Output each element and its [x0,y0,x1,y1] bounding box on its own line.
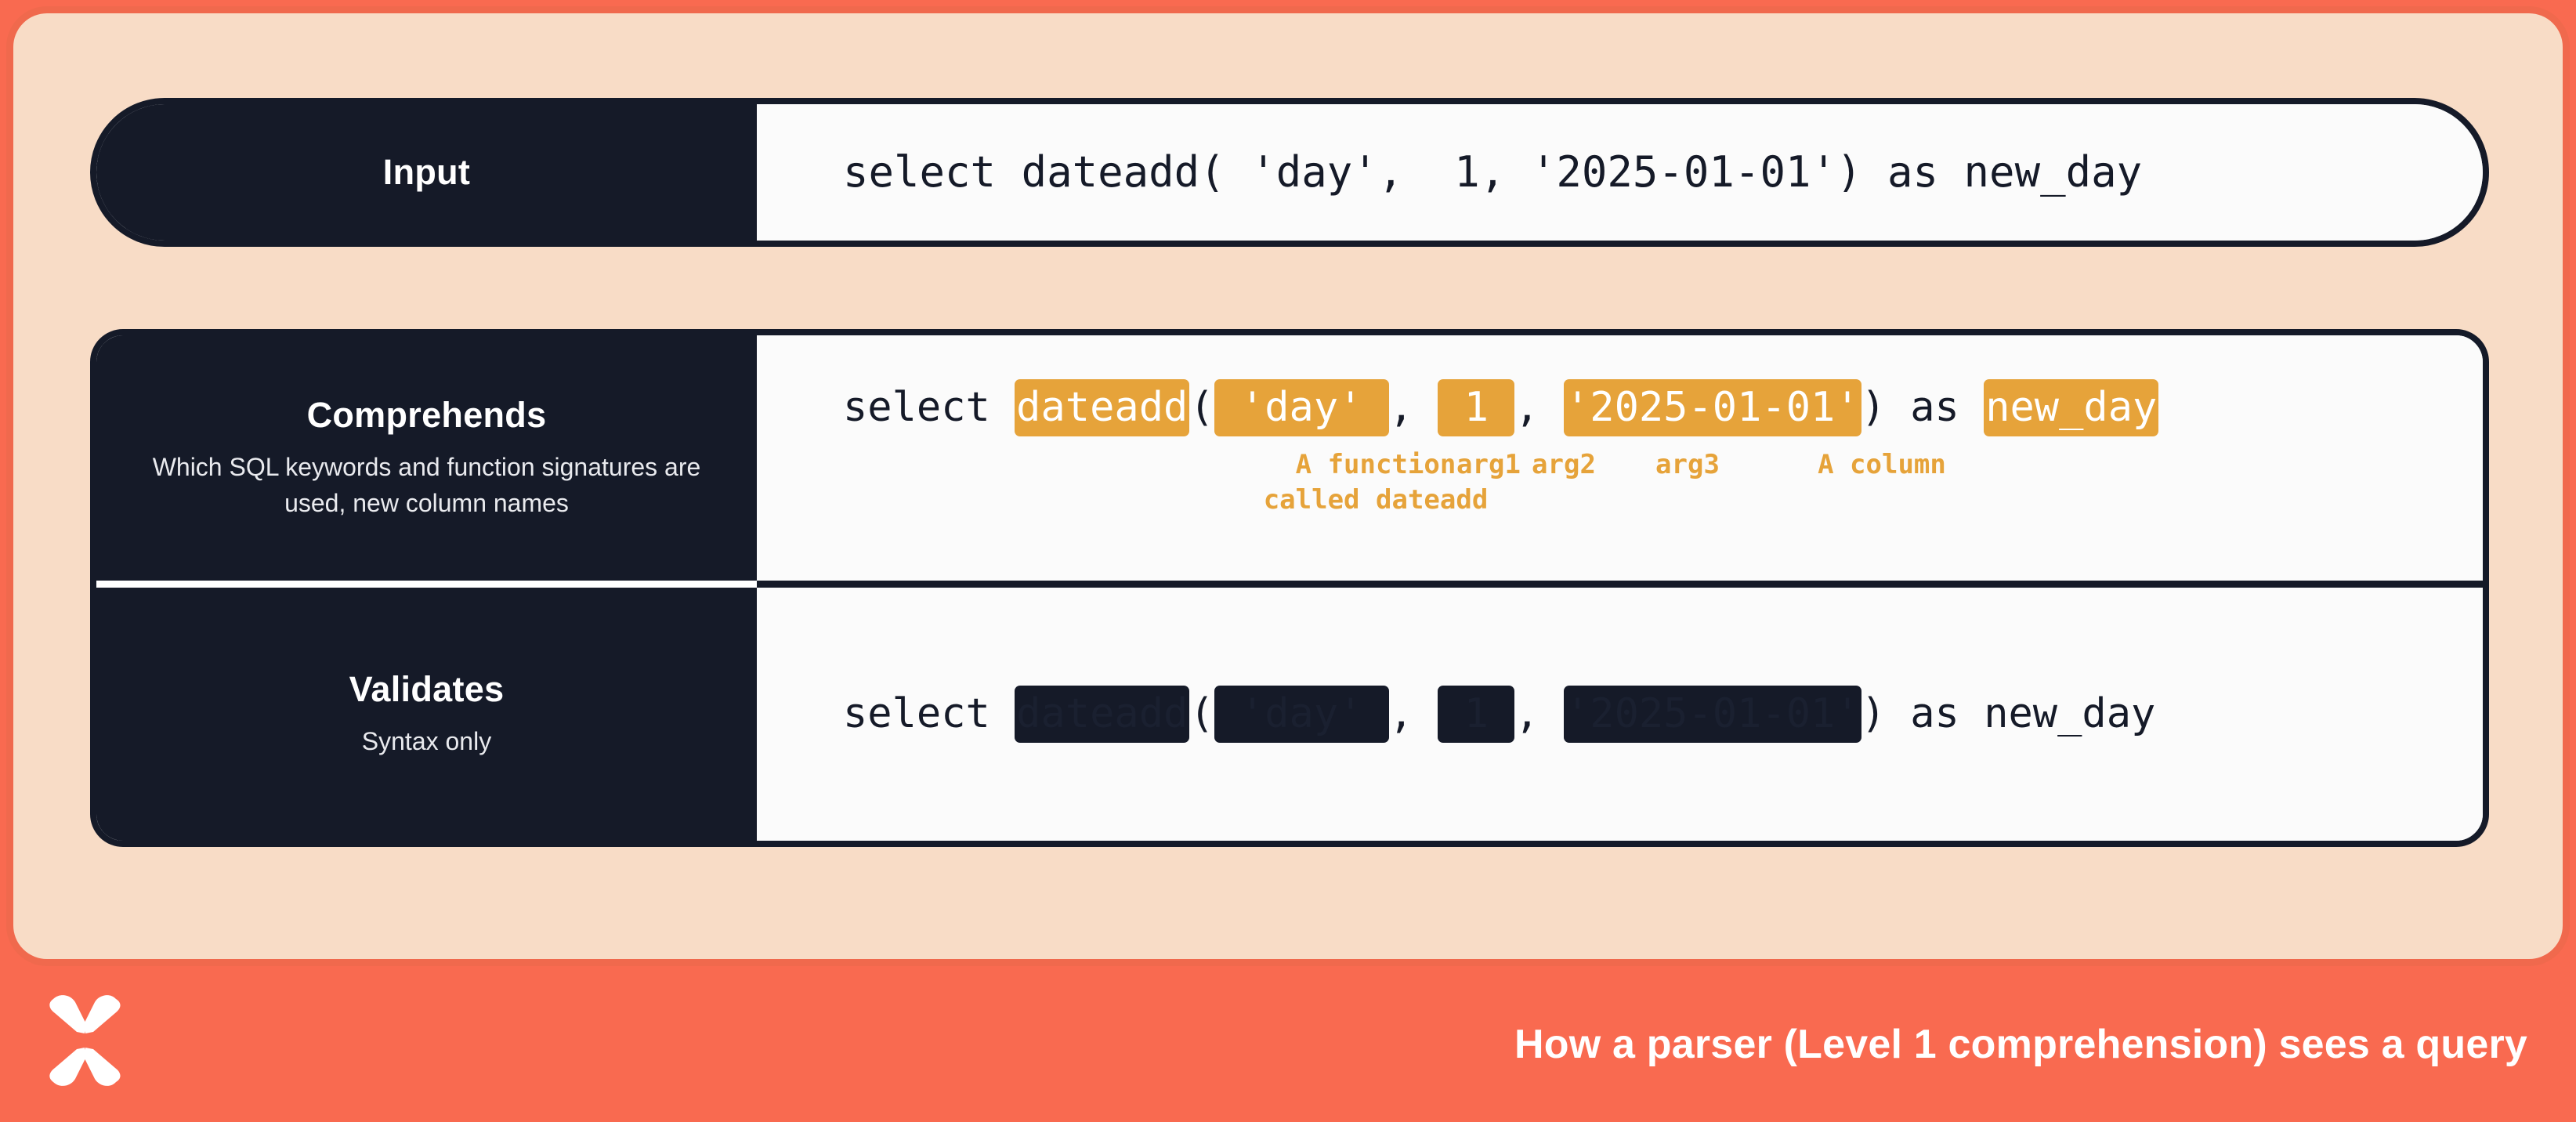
code-token: dateadd [1015,379,1189,436]
code-token: new_day [1964,150,2143,195]
code-token: , [1389,693,1438,736]
comprehends-label-cell: Comprehends Which SQL keywords and funct… [96,335,757,581]
input-query-code: select dateadd( 'day', 1, '2025-01-01') … [843,150,2142,195]
divider-left-segment [96,581,757,588]
token-annotation: A function called dateadd [1264,447,1489,518]
input-row-label: Input [383,152,470,193]
code-token: '2025-01-01' [1564,686,1861,743]
token-annotation: arg3 [1655,447,1720,483]
code-token: 'day' [1214,379,1389,436]
footer-title: How a parser (Level 1 comprehension) see… [1514,1021,2527,1068]
validates-query-code: select dateadd( 'day' , 1 , '2025-01-01'… [843,686,2483,743]
code-token: 1 [1454,150,1480,195]
token-annotation: A column [1818,447,1946,483]
code-token: 'day' [1250,150,1378,195]
input-row-label-cell: Input [96,104,757,241]
code-token: ( [1199,150,1250,195]
code-token: ) as [1861,693,1984,736]
code-token: , [1514,693,1564,736]
table-row: Validates Syntax only select dateadd( 'd… [96,588,2483,841]
input-row: Input select dateadd( 'day', 1, '2025-01… [90,98,2489,247]
divider-right-segment [757,581,2483,588]
code-token: ( [1189,386,1214,429]
code-token: select [843,150,1022,195]
comprehends-query-code: select dateadd( 'day' , 1 , '2025-01-01'… [843,379,2483,436]
code-token: ) as [1836,150,1964,195]
code-token: 1 [1438,686,1514,743]
comprehends-description: Which SQL keywords and function signatur… [153,450,701,521]
code-token: ( [1189,693,1214,736]
validates-description: Syntax only [362,724,491,759]
code-token: , [1514,386,1564,429]
row-divider [96,581,2483,588]
code-token: ) as [1861,386,1984,429]
code-token: new_day [1984,693,2155,736]
content-panel: Input select dateadd( 'day', 1, '2025-01… [6,6,2570,966]
token-annotation: arg2 [1532,447,1596,483]
comprehends-title: Comprehends [307,395,547,436]
code-token: dateadd [1022,150,1200,195]
code-token: , [1378,150,1455,195]
table-row: Comprehends Which SQL keywords and funct… [96,335,2483,581]
comprehends-annotation-group: A function called dateaddarg1arg2arg3A c… [843,447,2483,541]
code-token: select [843,693,1015,736]
code-token: dateadd [1015,686,1189,743]
validates-label-cell: Validates Syntax only [96,588,757,841]
code-token: '2025-01-01' [1531,150,1836,195]
token-annotation: arg1 [1456,447,1521,483]
code-token: , [1389,386,1438,429]
footer-bar: How a parser (Level 1 comprehension) see… [0,966,2576,1122]
code-token: select [843,386,1015,429]
code-token: 1 [1438,379,1514,436]
code-token: new_day [1984,379,2158,436]
code-token: , [1480,150,1531,195]
code-token: '2025-01-01' [1564,379,1861,436]
infographic-frame: Input select dateadd( 'day', 1, '2025-01… [0,0,2576,1122]
validates-code-cell: select dateadd( 'day' , 1 , '2025-01-01'… [757,588,2483,841]
validates-title: Validates [349,669,505,710]
comprehends-code-cell: select dateadd( 'day' , 1 , '2025-01-01'… [757,335,2483,581]
code-token: 'day' [1214,686,1389,743]
input-row-code-cell: select dateadd( 'day', 1, '2025-01-01') … [757,104,2483,241]
comprehension-table: Comprehends Which SQL keywords and funct… [90,329,2489,847]
x-mark-logo-icon [41,994,128,1087]
